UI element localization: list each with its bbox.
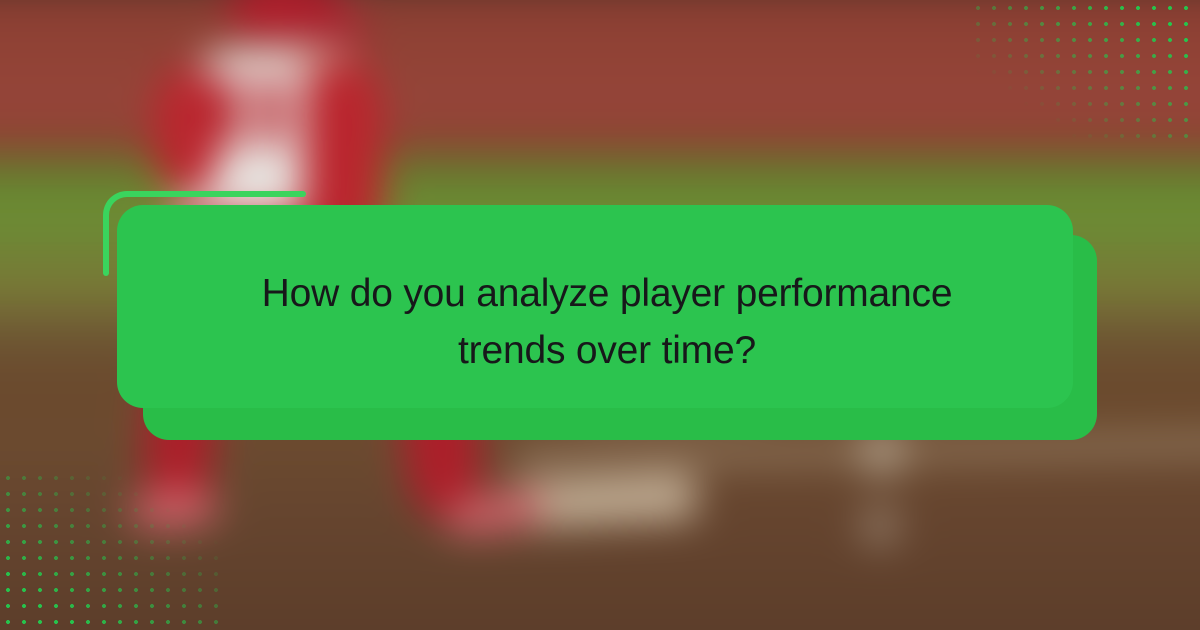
question-text: How do you analyze player performance tr… xyxy=(247,266,967,378)
player-shoe-left xyxy=(128,485,221,532)
player-sleeve xyxy=(153,68,219,195)
question-card: How do you analyze player performance tr… xyxy=(117,205,1097,440)
player-jersey-number-gap xyxy=(240,81,259,142)
poster-canvas: How do you analyze player performance tr… xyxy=(0,0,1200,630)
